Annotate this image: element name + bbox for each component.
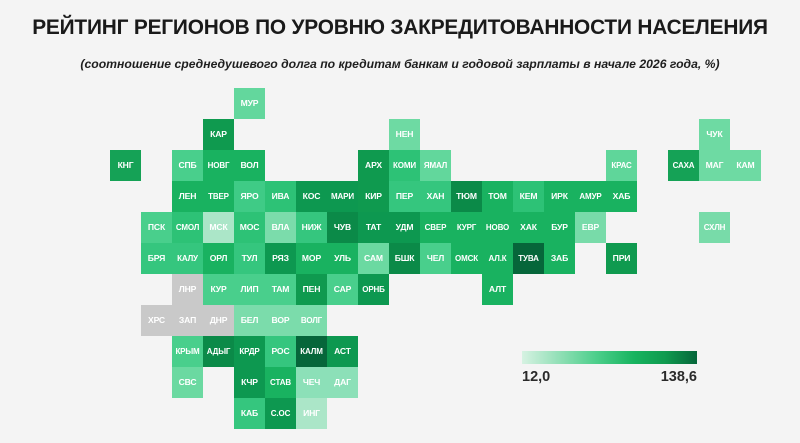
region-tile[interactable]: ХАН [420,181,451,212]
region-tile[interactable]: ВОР [265,305,296,336]
region-tile[interactable]: ТУВА [513,243,544,274]
infographic-canvas: РЕЙТИНГ РЕГИОНОВ ПО УРОВНЮ ЗАКРЕДИТОВАНН… [0,0,800,443]
region-tile[interactable]: МОР [296,243,327,274]
region-tile[interactable]: КОМИ [389,150,420,181]
region-tile[interactable]: КОС [296,181,327,212]
region-tile[interactable]: СВС [172,367,203,398]
region-tile[interactable]: ЧЕЧ [296,367,327,398]
region-tile[interactable]: КАЛМ [296,336,327,367]
region-tile[interactable]: ЧУК [699,119,730,150]
region-tile[interactable]: ЧЕЛ [420,243,451,274]
region-tile[interactable]: МСК [203,212,234,243]
region-tile[interactable]: АЛ.К [482,243,513,274]
region-tile[interactable]: НОВГ [203,150,234,181]
region-tile[interactable]: БШК [389,243,420,274]
region-tile[interactable]: ЗАБ [544,243,575,274]
region-tile[interactable]: КРЫМ [172,336,203,367]
region-tile[interactable]: ЛИП [234,274,265,305]
region-tile[interactable]: БУР [544,212,575,243]
region-tile[interactable]: КАР [203,119,234,150]
region-tile[interactable]: СПБ [172,150,203,181]
region-tile[interactable]: РОС [265,336,296,367]
region-tile[interactable]: СХЛН [699,212,730,243]
region-tile[interactable]: СТАВ [265,367,296,398]
region-tile[interactable]: КИР [358,181,389,212]
legend-max-label: 138,6 [661,369,697,385]
region-tile[interactable]: ОРЛ [203,243,234,274]
region-tile[interactable]: УДМ [389,212,420,243]
region-tile[interactable]: ТОМ [482,181,513,212]
region-tile[interactable]: ВЛА [265,212,296,243]
region-tile[interactable]: УЛЬ [327,243,358,274]
region-tile[interactable]: ХАК [513,212,544,243]
region-tile[interactable]: АДЫГ [203,336,234,367]
region-tile[interactable]: МУР [234,88,265,119]
region-tile[interactable]: КРАС [606,150,637,181]
region-tile[interactable]: НИЖ [296,212,327,243]
color-scale-legend: 12,0 138,6 [522,351,697,391]
region-tile[interactable]: КЕМ [513,181,544,212]
region-tile[interactable]: САР [327,274,358,305]
region-tile[interactable]: ЕВР [575,212,606,243]
region-tile[interactable]: САМ [358,243,389,274]
region-tile[interactable]: КАЛУ [172,243,203,274]
region-tile[interactable]: ЛЕН [172,181,203,212]
region-tile[interactable]: АЛТ [482,274,513,305]
region-tile[interactable]: ДАГ [327,367,358,398]
region-tile[interactable]: ЧУВ [327,212,358,243]
region-tile[interactable]: ЯРО [234,181,265,212]
region-tile[interactable]: САХА [668,150,699,181]
region-tile[interactable]: КУРГ [451,212,482,243]
region-tile[interactable]: ИВА [265,181,296,212]
region-tile[interactable]: АСТ [327,336,358,367]
region-tile[interactable]: ХРС [141,305,172,336]
region-tile[interactable]: ИНГ [296,398,327,429]
region-tile[interactable]: КЧР [234,367,265,398]
region-tile[interactable]: ПРИ [606,243,637,274]
region-tile[interactable]: НЕН [389,119,420,150]
region-tile[interactable]: ЗАП [172,305,203,336]
region-tile[interactable]: ТАТ [358,212,389,243]
region-tile[interactable]: КАБ [234,398,265,429]
region-tile[interactable]: ДНР [203,305,234,336]
region-tile[interactable]: ЛНР [172,274,203,305]
region-tile[interactable]: КАМ [730,150,761,181]
region-tile[interactable]: ТВЕР [203,181,234,212]
region-tile[interactable]: ВОЛГ [296,305,327,336]
region-tile[interactable]: СМОЛ [172,212,203,243]
region-tile[interactable]: ПСК [141,212,172,243]
region-tile[interactable]: АМУР [575,181,606,212]
region-tile[interactable]: ПЕН [296,274,327,305]
region-tile[interactable]: МОС [234,212,265,243]
region-tile[interactable]: БЕЛ [234,305,265,336]
region-tile[interactable]: ХАБ [606,181,637,212]
region-tile[interactable]: ТЮМ [451,181,482,212]
region-tile[interactable]: ОМСК [451,243,482,274]
region-tile[interactable]: БРЯ [141,243,172,274]
region-tile[interactable]: ЯМАЛ [420,150,451,181]
legend-gradient-bar [522,351,697,364]
region-tile[interactable]: КРДР [234,336,265,367]
region-tile[interactable]: МАГ [699,150,730,181]
region-tile[interactable]: НОВО [482,212,513,243]
region-tile[interactable]: ВОЛ [234,150,265,181]
region-tile[interactable]: КУР [203,274,234,305]
region-tile[interactable]: ТАМ [265,274,296,305]
legend-labels: 12,0 138,6 [522,369,697,391]
region-tile[interactable]: АРХ [358,150,389,181]
legend-min-label: 12,0 [522,369,550,385]
region-tile[interactable]: ТУЛ [234,243,265,274]
region-tile[interactable]: С.ОС [265,398,296,429]
region-tile[interactable]: ПЕР [389,181,420,212]
region-tile[interactable]: КНГ [110,150,141,181]
region-tile[interactable]: МАРИ [327,181,358,212]
region-tile[interactable]: ОРНБ [358,274,389,305]
region-tile[interactable]: СВЕР [420,212,451,243]
region-tile[interactable]: ИРК [544,181,575,212]
region-tile[interactable]: РЯЗ [265,243,296,274]
